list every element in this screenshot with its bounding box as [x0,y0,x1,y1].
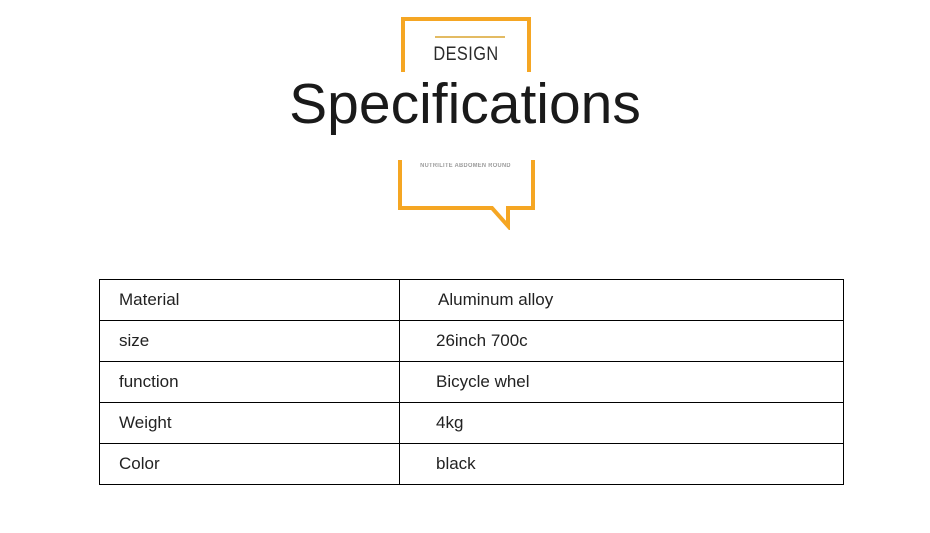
spec-key: Weight [100,403,400,444]
eyebrow-label: DESIGN [410,44,522,66]
page-title: Specifications [0,74,930,136]
spec-value: Aluminum alloy [400,280,844,321]
spec-value: 26inch 700c [400,321,844,362]
specifications-table-body: Material Aluminum alloy size 26inch 700c… [100,280,844,485]
spec-value: Bicycle whel [400,362,844,403]
table-row: Material Aluminum alloy [100,280,844,321]
spec-key: function [100,362,400,403]
specifications-page: DESIGN Specifications NUTRILITE ABDOMEN … [0,0,930,533]
table-row: size 26inch 700c [100,321,844,362]
eyebrow-divider-rule [435,36,505,38]
bottom-bracket-decoration [390,160,550,230]
spec-value: black [400,444,844,485]
table-row: Weight 4kg [100,403,844,444]
spec-key: size [100,321,400,362]
spec-value: 4kg [400,403,844,444]
table-row: Color black [100,444,844,485]
product-sub-label: NUTRILITE ABDOMEN ROUND [401,163,529,169]
spec-key: Color [100,444,400,485]
speech-bubble-bracket-icon [390,160,550,230]
table-row: function Bicycle whel [100,362,844,403]
design-banner: DESIGN Specifications NUTRILITE ABDOMEN … [0,0,930,240]
spec-key: Material [100,280,400,321]
specifications-table: Material Aluminum alloy size 26inch 700c… [99,279,844,485]
